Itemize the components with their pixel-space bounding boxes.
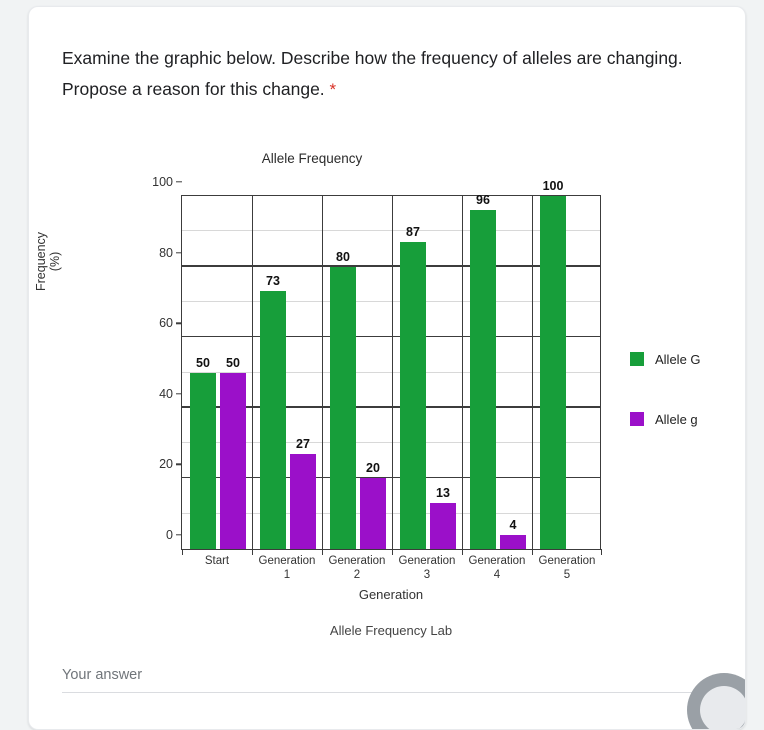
x-axis-category-label: Generation <box>392 554 462 568</box>
chart-figure: Allele Frequency Frequency (%) 020406080… <box>62 139 722 649</box>
y-axis-tick-label: 60 <box>159 316 182 330</box>
bar-allele-g: 27 <box>290 454 316 549</box>
x-axis-category-label: Generation <box>532 554 602 568</box>
bar-group: 100Generation5 <box>532 196 602 549</box>
x-axis-category-label: 1 <box>252 568 322 582</box>
question-text: Examine the graphic below. Describe how … <box>62 43 722 105</box>
bar-value-label: 50 <box>196 356 210 370</box>
bar-value-label: 87 <box>406 225 420 239</box>
bar-allele-G: 100 <box>540 196 566 549</box>
x-axis-category-label: Generation <box>322 554 392 568</box>
x-axis-category: Generation3 <box>392 554 462 582</box>
question-prompt: Examine the graphic below. Describe how … <box>62 48 683 99</box>
answer-placeholder[interactable]: Your answer <box>62 667 702 692</box>
bar-value-label: 100 <box>543 179 564 193</box>
bar-value-label: 73 <box>266 274 280 288</box>
chart-title: Allele Frequency <box>62 151 562 166</box>
legend-swatch-icon <box>630 412 644 426</box>
bar-allele-G: 96 <box>470 210 496 549</box>
bar-allele-G: 73 <box>260 291 286 549</box>
answer-field[interactable]: Your answer <box>62 667 702 693</box>
required-asterisk: * <box>330 80 337 99</box>
legend-swatch-icon <box>630 352 644 366</box>
x-axis-tick <box>601 549 602 555</box>
y-axis-label: Frequency (%) <box>34 232 62 291</box>
y-axis-tick-label: 100 <box>152 175 182 189</box>
bar-value-label: 20 <box>366 461 380 475</box>
chart-legend: Allele GAllele g <box>630 351 701 471</box>
legend-label: Allele G <box>655 352 701 367</box>
x-axis-category: Generation1 <box>252 554 322 582</box>
x-axis-category-label: 5 <box>532 568 602 582</box>
x-axis-category: Start <box>182 554 252 568</box>
form-question-card: Examine the graphic below. Describe how … <box>28 6 746 730</box>
x-axis-category-label: 3 <box>392 568 462 582</box>
bar-allele-g: 20 <box>360 478 386 549</box>
y-axis-label-line1: Frequency <box>34 232 48 291</box>
bar-value-label: 13 <box>436 486 450 500</box>
y-axis-tick-label: 0 <box>166 528 182 542</box>
legend-item: Allele g <box>630 411 701 427</box>
bar-value-label: 50 <box>226 356 240 370</box>
bar-allele-G: 50 <box>190 373 216 550</box>
x-axis-category-label: Generation <box>252 554 322 568</box>
x-axis-category: Generation5 <box>532 554 602 582</box>
bar-group: 964Generation4 <box>462 196 532 549</box>
bar-group: 8713Generation3 <box>392 196 462 549</box>
bar-group: 7327Generation1 <box>252 196 322 549</box>
bar-value-label: 27 <box>296 437 310 451</box>
x-axis-category-label: Start <box>182 554 252 568</box>
x-axis-category: Generation4 <box>462 554 532 582</box>
y-axis-label-line2: (%) <box>48 232 62 291</box>
legend-label: Allele g <box>655 412 698 427</box>
bar-allele-g: 50 <box>220 373 246 550</box>
bar-value-label: 96 <box>476 193 490 207</box>
bar-allele-G: 87 <box>400 242 426 549</box>
x-axis-category: Generation2 <box>322 554 392 582</box>
bar-value-label: 80 <box>336 250 350 264</box>
x-axis-label: Generation <box>181 587 601 602</box>
x-axis-category-label: 2 <box>322 568 392 582</box>
bar-allele-g: 4 <box>500 535 526 549</box>
bar-allele-G: 80 <box>330 267 356 549</box>
bar-group: 8020Generation2 <box>322 196 392 549</box>
bar-value-label: 4 <box>510 518 517 532</box>
chart-plot-area: 0204060801005050Start7327Generation18020… <box>181 195 601 550</box>
y-axis-tick-label: 80 <box>159 246 182 260</box>
bar-group: 5050Start <box>182 196 252 549</box>
y-axis-tick-label: 40 <box>159 387 182 401</box>
y-axis-tick-label: 20 <box>159 457 182 471</box>
answer-underline <box>62 692 702 693</box>
x-axis-category-label: 4 <box>462 568 532 582</box>
x-axis-category-label: Generation <box>462 554 532 568</box>
chart-caption: Allele Frequency Lab <box>181 623 601 638</box>
screenshot-root: Examine the graphic below. Describe how … <box>0 0 764 730</box>
legend-item: Allele G <box>630 351 701 367</box>
bar-allele-g: 13 <box>430 503 456 549</box>
